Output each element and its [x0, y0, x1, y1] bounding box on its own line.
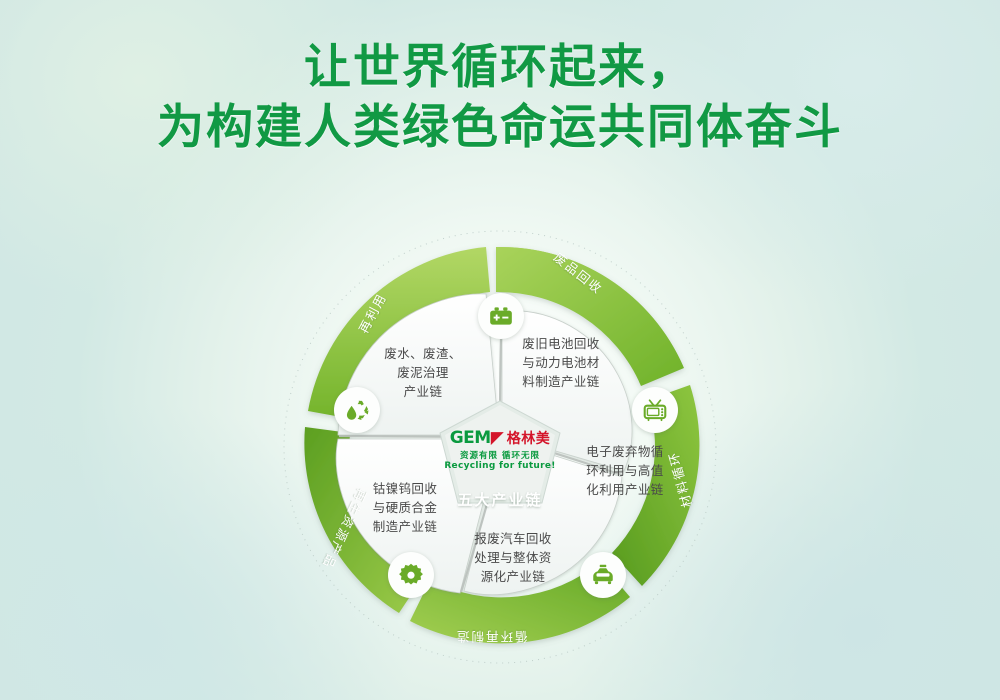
icon-bubble-battery[interactable] [478, 293, 524, 339]
hub-title: 五大产业链 [430, 489, 570, 510]
icon-bubble-electronics[interactable] [632, 387, 678, 433]
segment-text-electronics-chain: 电子废弃物循 环利用与高值 化利用产业链 [570, 443, 680, 499]
brand-lockup: GEM ◤ 格林美 [430, 428, 570, 448]
icon-bubble-vehicle[interactable] [580, 552, 626, 598]
segment-text-vehicle-chain: 报废汽车回收 处理与整体资 源化产业链 [458, 530, 568, 586]
brand-slogan-en: Recycling for future! [430, 461, 570, 471]
icon-bubble-alloy[interactable] [388, 552, 434, 598]
segment-text-battery-chain: 废旧电池回收 与动力电池材 料制造产业链 [506, 335, 616, 391]
brand-chinese: 格林美 [507, 428, 551, 448]
ring-label-remanufacture: 循环再制造 [455, 628, 528, 647]
brand-mark-icon: ◤ [491, 428, 504, 448]
brand-slogan-cn: 资源有限 循环无限 [430, 449, 570, 461]
gear-icon [398, 562, 424, 588]
headline-line-2: 为构建人类绿色命运共同体奋斗 [0, 98, 1000, 158]
car-icon [590, 562, 616, 588]
center-logo-hub: GEM ◤ 格林美 资源有限 循环无限 Recycling for future… [430, 428, 570, 510]
segment-text-wastewater-chain: 废水、废渣、 废泥治理 产业链 [368, 345, 478, 401]
headline-line-1: 让世界循环起来， [0, 38, 1000, 98]
water-recycle-icon [344, 397, 370, 423]
page-title: 让世界循环起来， 为构建人类绿色命运共同体奋斗 [0, 38, 1000, 158]
icon-bubble-wastewater[interactable] [334, 387, 380, 433]
battery-icon [488, 303, 514, 329]
tv-icon [642, 397, 668, 423]
brand-latin: GEM [450, 428, 491, 448]
